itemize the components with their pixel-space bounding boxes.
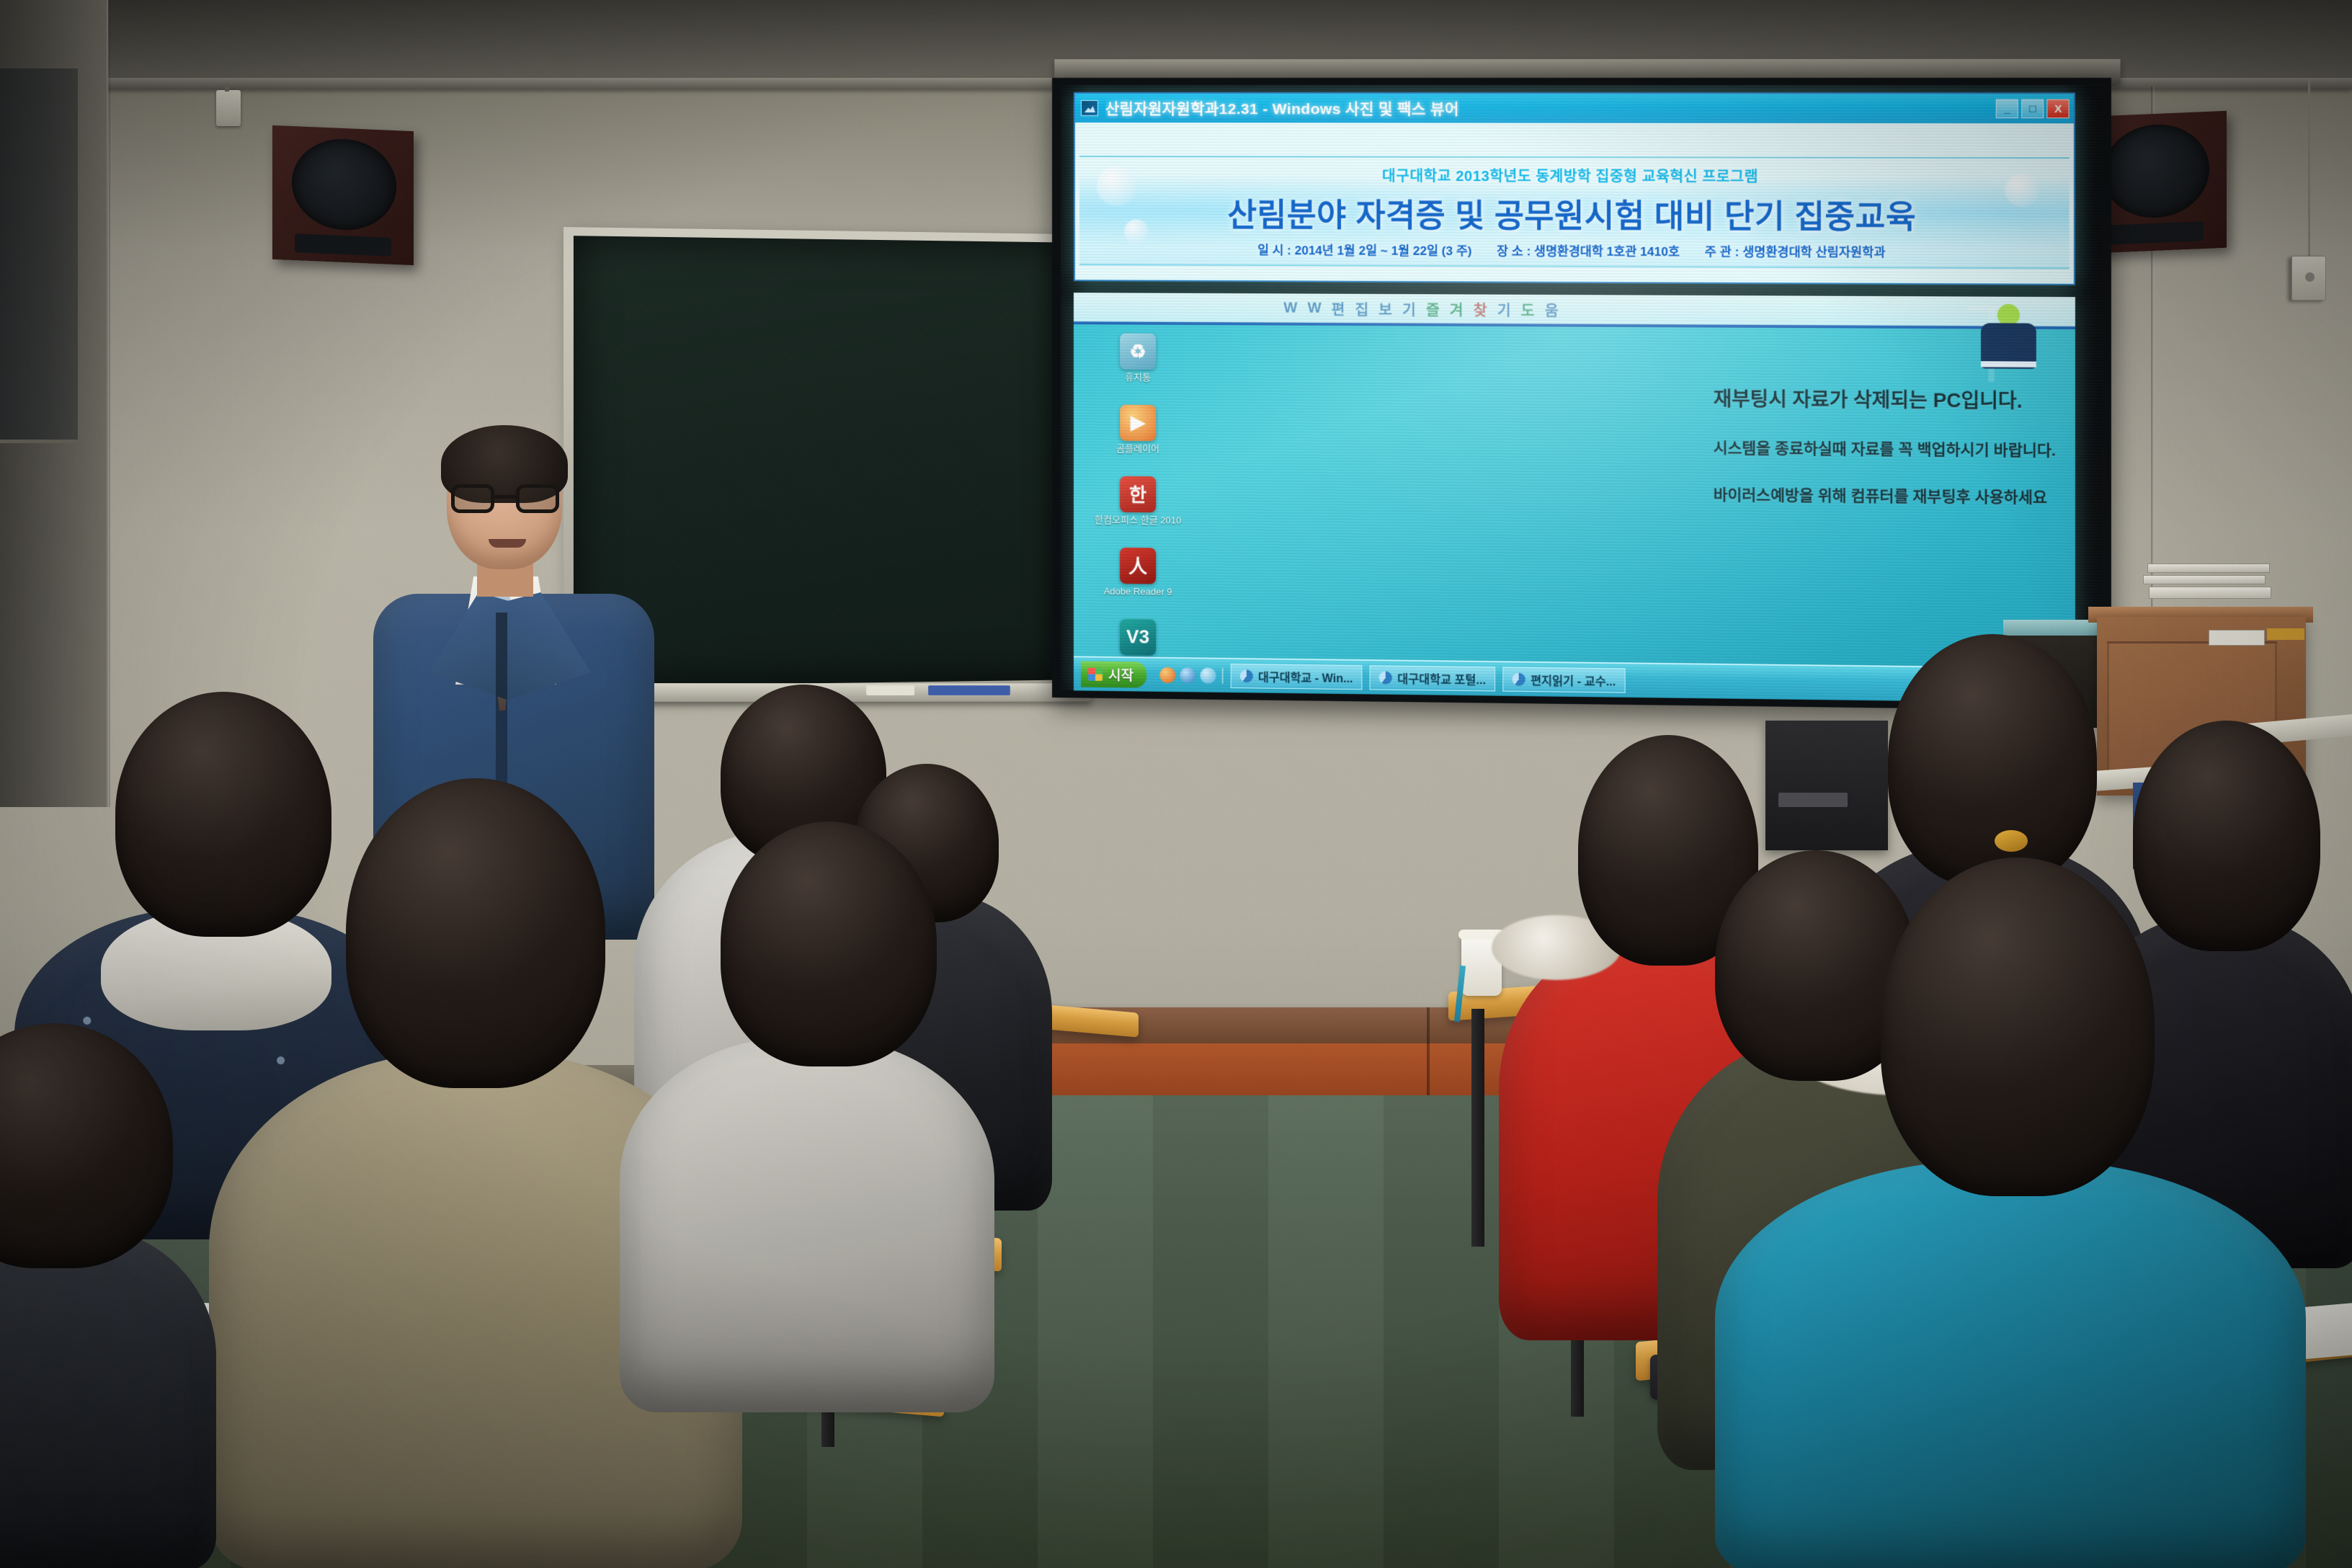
wallpaper-figure-icon [1961,303,2059,391]
browser-toolbar[interactable]: W W 편 집 보 기 즐 겨 찾 기 도 움 [1074,293,2075,329]
speaker-cone [292,137,396,233]
toolbar-glyph: 기 [1402,298,1416,319]
toolbar-glyph: 움 [1545,299,1559,320]
ie-icon [1240,669,1253,682]
student-hair [1881,857,2155,1196]
toolbar-glyph: 도 [1521,298,1535,319]
icon-label: 곰플레이어 [1095,443,1181,455]
toolbar-glyph: 집 [1355,298,1368,318]
left-wall-dark-panel [0,68,78,443]
icon-label: 한컴오피스 한글 2010 [1095,514,1181,526]
toolbar-glyph: 겨 [1450,298,1464,319]
book [2143,575,2266,584]
start-button[interactable]: 시작 [1081,661,1146,687]
student-hair [721,821,937,1066]
glasses-icon [451,484,559,513]
poster-meta-host: 주 관 : 생명환경대학 산림자원학과 [1705,241,1886,260]
toolbar-glyph: 편 [1332,298,1345,318]
classroom-scene: 산림자원자원학과12.31 - Windows 사진 및 팩스 뷰어 _ □ X… [0,0,2352,1568]
close-icon[interactable]: X [2047,99,2070,119]
photo-viewer-window[interactable]: 산림자원자원학과12.31 - Windows 사진 및 팩스 뷰어 _ □ X… [1074,92,2075,285]
speaker-port [2106,221,2204,244]
desktop-icon-adobe-reader[interactable]: 人 Adobe Reader 9 [1084,547,1192,598]
windows-flag-icon [1088,668,1102,681]
poster-bubble [1097,166,1137,206]
poster-meta: 일 시 : 2014년 1월 2일 ~ 1월 22일 (3 주) 장 소 : 생… [1257,240,1885,260]
wall-speaker-left [272,125,414,265]
taskbar-item-label: 대구대학교 - Win... [1258,667,1353,686]
poster-headline: 산림분야 자격증 및 공무원시험 대비 단기 집중교육 [1227,190,1916,238]
media-icon[interactable] [1180,667,1195,683]
projected-image: 산림자원자원학과12.31 - Windows 사진 및 팩스 뷰어 _ □ X… [1061,85,2102,703]
figure-stripe [1981,361,2036,367]
student-teal-top [1715,857,2306,1568]
photo-viewer-icon [1081,100,1098,116]
ie-icon [1379,671,1392,684]
desktop-icon-gom-player[interactable]: ▶ 곰플레이어 [1084,404,1192,455]
outlet-cord [2308,79,2310,258]
window-controls: _ □ X [1996,99,2070,119]
podium-sticker [2267,628,2304,640]
student-torso [0,1225,216,1568]
projection-screen: 산림자원자원학과12.31 - Windows 사진 및 팩스 뷰어 _ □ X… [1052,78,2111,710]
student-torso [620,1038,994,1412]
book [2147,563,2270,573]
gom-player-icon: ▶ [1120,405,1156,441]
taskbar-item-portal[interactable]: 대구대학교 포털... [1370,665,1495,691]
wallpaper-notice: 재부팅시 자료가 삭제되는 PC입니다. 시스템을 종료하실때 자료를 꼭 백업… [1714,383,2056,508]
taskbar-item-label: 대구대학교 포털... [1397,669,1486,688]
wall-corner-edge [107,0,110,807]
student-front-left-edge [0,1023,216,1568]
wall-outlet-icon[interactable] [2291,256,2326,300]
desktop-icon-list: ♻ 휴지통 ▶ 곰플레이어 한 한컴오피스 한글 2010 人 Adobe Re… [1084,333,1192,703]
wallpaper-line-2: 시스템을 종료하실때 자료를 꼭 백업하시기 바랍니다. [1714,437,2056,461]
stacked-books [2147,563,2277,607]
icon-label: Adobe Reader 9 [1095,586,1181,597]
toolbar-glyph: 보 [1378,298,1392,319]
taskbar-item-daegu-univ[interactable]: 대구대학교 - Win... [1231,664,1363,690]
poster-meta-date: 일 시 : 2014년 1월 2일 ~ 1월 22일 (3 주) [1257,240,1471,259]
recycle-bin-icon: ♻ [1120,333,1156,369]
wallpaper-line-1: 재부팅시 자료가 삭제되는 PC입니다. [1714,383,2056,414]
adobe-reader-icon: 人 [1120,548,1156,584]
quick-launch-bar[interactable] [1154,667,1223,684]
window-titlebar: 산림자원자원학과12.31 - Windows 사진 및 팩스 뷰어 _ □ X [1075,94,2074,123]
book [2149,587,2271,599]
student-gray-hoodie-front [620,821,994,1412]
toolbar-glyph: 즐 [1426,298,1440,319]
taskbar-item-mail[interactable]: 편지읽기 - 교수... [1502,667,1625,692]
program-poster: 대구대학교 2013학년도 동계방학 집중형 교육혁신 프로그램 산림분야 자격… [1079,156,2070,269]
instructor-mouth [489,539,526,548]
toolbar-glyph: 기 [1497,298,1511,319]
poster-kicker: 대구대학교 2013학년도 동계방학 집중형 교육혁신 프로그램 [1382,164,1758,186]
desktop-icon-recycle-bin[interactable]: ♻ 휴지통 [1084,333,1192,383]
v3-antivirus-icon: V3 [1120,619,1156,656]
taskbar-item-label: 편지읽기 - 교수... [1531,671,1616,690]
podium-label-tag [2209,630,2265,646]
ie-icon [1513,673,1525,686]
glasses-lens-right [516,484,559,513]
window-title: 산림자원자원학과12.31 - Windows 사진 및 팩스 뷰어 [1105,97,1459,119]
start-button-label: 시작 [1108,664,1133,684]
student-torso [1715,1160,2306,1568]
student-hair [0,1023,173,1268]
toolbar-glyph: W [1307,300,1321,316]
desktop-icon-hancom[interactable]: 한 한컴오피스 한글 2010 [1084,476,1192,526]
toolbar-glyph: W [1283,300,1297,316]
maximize-button[interactable]: □ [2021,99,2044,119]
desk-leg [1471,1009,1484,1247]
toolbar-glyph: 찾 [1474,298,1487,319]
glasses-bridge [494,495,516,499]
icon-label: 휴지통 [1095,372,1181,383]
speaker-cone [2103,122,2209,220]
speaker-port [295,233,391,257]
minimize-button[interactable]: _ [1996,99,2018,119]
student-hair [346,778,605,1088]
poster-meta-place: 장 소 : 생명환경대학 1호관 1410호 [1497,241,1680,259]
korean-app-icon: 한 [1120,476,1156,513]
viewer-canvas: 대구대학교 2013학년도 동계방학 집중형 교육혁신 프로그램 산림분야 자격… [1075,122,2074,284]
wallpaper-line-3: 바이러스예방을 위해 컴퓨터를 재부팅후 사용하세요 [1714,483,2056,507]
ie-icon[interactable] [1200,667,1216,683]
glasses-lens-left [451,484,494,513]
gom-icon[interactable] [1159,667,1175,683]
poster-bubble [1124,219,1149,244]
smoke-sensor-icon [216,90,241,126]
poster-bubble [2005,174,2039,208]
